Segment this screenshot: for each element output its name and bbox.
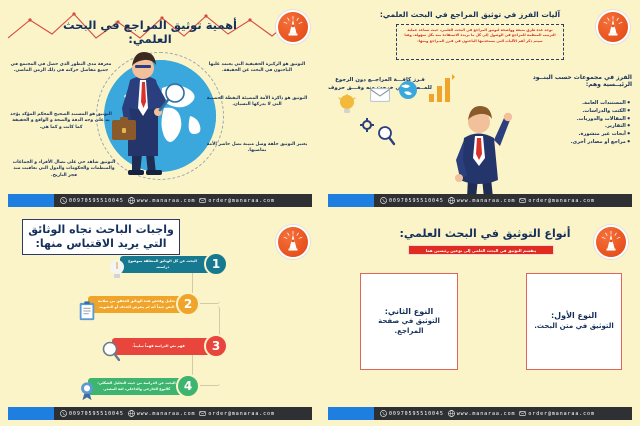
type-two-heading: النوع الثاني: bbox=[367, 307, 451, 318]
footer-website[interactable]: www.manaraa.com bbox=[128, 410, 196, 417]
sorting-bullet-list: المستندات العامة. الكتب والدراسات. المقا… bbox=[518, 100, 630, 147]
type-two-card: النوع الثاني: التوثيق في صفحة المراجع. bbox=[360, 273, 458, 370]
gear-icon bbox=[360, 118, 374, 132]
types-banner-text: ينقسم التوثيق في البحث العلمي إلى نوعين … bbox=[426, 248, 537, 253]
footer-website[interactable]: www.manaraa.com bbox=[448, 197, 516, 204]
footer-phone-text: 00970595510045 bbox=[389, 198, 444, 204]
globe-icon bbox=[128, 197, 135, 204]
type-one-body: التوثيق في متن البحث. bbox=[534, 322, 614, 331]
step-circle-4: 4 bbox=[176, 374, 200, 398]
step-3-text: فهم نص الدراسة فهماً سليماً. bbox=[132, 344, 185, 349]
lightbulb-icon bbox=[108, 259, 126, 279]
lighthouse-icon bbox=[601, 15, 625, 39]
whatsapp-icon bbox=[380, 410, 387, 417]
step-3-number: 3 bbox=[212, 339, 220, 353]
footer-website[interactable]: www.manaraa.com bbox=[128, 197, 196, 204]
footer-bar-bottom-left: 00970595510045 www.manaraa.com orde bbox=[8, 407, 312, 420]
footer-phone[interactable]: 00970595510045 bbox=[60, 410, 124, 417]
step-4-number: 4 bbox=[184, 379, 192, 393]
step-circle-1: 1 bbox=[204, 252, 228, 276]
footer-email[interactable]: order@manaraa.com bbox=[199, 410, 274, 417]
page-title-top-right: آليات الفرز في توثيق المراجع في البحث ال… bbox=[356, 10, 584, 19]
type-two-body: التوثيق في صفحة المراجع. bbox=[367, 317, 451, 336]
footer-accent-block bbox=[8, 194, 54, 207]
title-line-1: واجبات الباحث تجاه الوثائق bbox=[28, 223, 174, 237]
infographic-page: أهمية توثيق المراجع في البحث العلمي: bbox=[0, 0, 640, 426]
footer-phone-text: 00970595510045 bbox=[69, 198, 124, 204]
intro-dashed-box: توجد عدة طرق متبعة وواضحة لتوثيق المراجع… bbox=[396, 24, 564, 60]
brand-logo-top-right bbox=[596, 10, 630, 44]
globe-icon bbox=[448, 197, 455, 204]
magnifying-glass-icon bbox=[158, 82, 186, 112]
brand-logo-bottom-right bbox=[594, 225, 628, 259]
step-bar-1: البحث عن كل الوثائق المتعلقة بموضوع دراس… bbox=[120, 256, 216, 273]
globe-icon bbox=[398, 80, 418, 100]
footer-email-text: order@manaraa.com bbox=[528, 198, 594, 204]
panel-researcher-duties: واجبات الباحث تجاه الوثائق التي يريد الا… bbox=[0, 213, 320, 426]
types-banner: ينقسم التوثيق في البحث العلمي إلى نوعين … bbox=[408, 245, 554, 255]
footer-website-text: www.manaraa.com bbox=[457, 198, 516, 204]
note-right-middle: التوثيق هو ذاكرة الأمة المضيئة اليقظة ال… bbox=[202, 96, 312, 109]
title-line-2: التي يريد الاقتباس منها: bbox=[36, 237, 167, 251]
footer-email-text: order@manaraa.com bbox=[208, 411, 274, 417]
footer-phone[interactable]: 00970595510045 bbox=[60, 197, 124, 204]
note-right-bottom: يعتبر التوثيق حلقة وصل متينة تصل حاضر ال… bbox=[202, 142, 312, 155]
step-1-number: 1 bbox=[212, 257, 220, 271]
envelope-icon bbox=[199, 410, 206, 417]
bullet-item-4: أبحاث غير منشورة. bbox=[518, 131, 630, 139]
footer-phone[interactable]: 00970595510045 bbox=[380, 410, 444, 417]
envelope-icon bbox=[370, 88, 390, 102]
magnifying-glass-icon bbox=[102, 341, 120, 361]
lightbulb-icon bbox=[338, 94, 356, 116]
step-2-number: 2 bbox=[184, 297, 192, 311]
panel-types-of-citation: أنواع التوثيق في البحث العلمي: ينقسم الت… bbox=[320, 213, 640, 426]
bullet-item-5: مراجع أو مصادر أخرى. bbox=[518, 139, 630, 147]
whatsapp-icon bbox=[60, 410, 67, 417]
footer-phone-text: 00970595510045 bbox=[69, 411, 124, 417]
page-title-bottom-right: أنواع التوثيق في البحث العلمي: bbox=[390, 227, 580, 240]
businessman-pointing-up-illustration bbox=[442, 96, 516, 200]
step-bar-3: فهم نص الدراسة فهماً سليماً. bbox=[112, 338, 216, 355]
note-right-top: التوثيق هو الركيزة الحقيقية التي يعتمد ع… bbox=[202, 62, 312, 75]
page-title-bottom-left: واجبات الباحث تجاه الوثائق التي يريد الا… bbox=[22, 219, 180, 255]
footer-accent-block bbox=[8, 407, 54, 420]
intro-box-text: توجد عدة طرق متبعة وواضحة لتوثيق المراجع… bbox=[397, 25, 563, 47]
bullet-item-0: المستندات العامة. bbox=[518, 100, 630, 108]
step-circle-3: 3 bbox=[204, 334, 228, 358]
step-1-text: البحث عن كل الوثائق المتعلقة بموضوع دراس… bbox=[125, 259, 200, 269]
lighthouse-icon bbox=[599, 230, 623, 254]
footer-accent-block bbox=[328, 407, 374, 420]
brand-logo-top-left bbox=[276, 10, 310, 44]
envelope-icon bbox=[199, 197, 206, 204]
note-left-top: معرفة مدى التطور الذي حصل في المجتمع في … bbox=[8, 62, 114, 75]
footer-website[interactable]: www.manaraa.com bbox=[448, 410, 516, 417]
bullet-item-1: الكتب والدراسات. bbox=[518, 108, 630, 116]
footer-website-text: www.manaraa.com bbox=[137, 198, 196, 204]
lighthouse-icon bbox=[281, 230, 305, 254]
bullet-item-2: المقالات والدوريات. bbox=[518, 116, 630, 124]
clipboard-icon bbox=[78, 301, 96, 321]
footer-email[interactable]: order@manaraa.com bbox=[519, 197, 594, 204]
type-one-heading: النوع الأول: bbox=[534, 311, 614, 322]
footer-bar-bottom-right: 00970595510045 www.manaraa.com orde bbox=[328, 407, 632, 420]
step-2-text: تحليل وفحص هذه الوثائق للتحقق من سلامة ا… bbox=[93, 299, 180, 309]
footer-email[interactable]: order@manaraa.com bbox=[199, 197, 274, 204]
award-ribbon-icon bbox=[78, 381, 96, 401]
envelope-icon bbox=[519, 410, 526, 417]
type-one-card: النوع الأول: التوثيق في متن البحث. bbox=[526, 273, 622, 370]
footer-website-text: www.manaraa.com bbox=[457, 411, 516, 417]
footer-bar-top-right: 00970595510045 www.manaraa.com orde bbox=[328, 194, 632, 207]
envelope-icon bbox=[519, 197, 526, 204]
brand-logo-bottom-left bbox=[276, 225, 310, 259]
globe-icon bbox=[128, 410, 135, 417]
footer-website-text: www.manaraa.com bbox=[137, 411, 196, 417]
footer-email-text: order@manaraa.com bbox=[208, 198, 274, 204]
footer-email[interactable]: order@manaraa.com bbox=[519, 410, 594, 417]
lighthouse-icon bbox=[281, 15, 305, 39]
magnifying-glass-icon bbox=[378, 126, 396, 146]
panel-sorting-mechanisms: آليات الفرز في توثيق المراجع في البحث ال… bbox=[320, 0, 640, 213]
note-left-middle: التوثيق هو المستند الصحيح المحكم المؤكد … bbox=[8, 112, 114, 131]
footer-email-text: order@manaraa.com bbox=[528, 411, 594, 417]
footer-phone-text: 00970595510045 bbox=[389, 411, 444, 417]
panel-importance-of-citation: أهمية توثيق المراجع في البحث العلمي: bbox=[0, 0, 320, 213]
step-circle-2: 2 bbox=[176, 292, 200, 316]
whatsapp-icon bbox=[60, 197, 67, 204]
sorting-right-heading: الفرز في مجموعات حسب البنــود الرئيــسية… bbox=[514, 74, 632, 88]
footer-phone[interactable]: 00970595510045 bbox=[380, 197, 444, 204]
whatsapp-icon bbox=[380, 197, 387, 204]
footer-bar-top-left: 00970595510045 www.manaraa.com orde bbox=[8, 194, 312, 207]
note-left-bottom: التوثيق شاهد حي على نضال الأفراد و الجما… bbox=[12, 160, 116, 179]
globe-icon bbox=[448, 410, 455, 417]
bullet-item-3: التقارير. bbox=[518, 123, 630, 131]
step-4-text: البحث عن الدراسة من حيث التحليل الشكلي: … bbox=[93, 381, 180, 391]
footer-accent-block bbox=[328, 194, 374, 207]
